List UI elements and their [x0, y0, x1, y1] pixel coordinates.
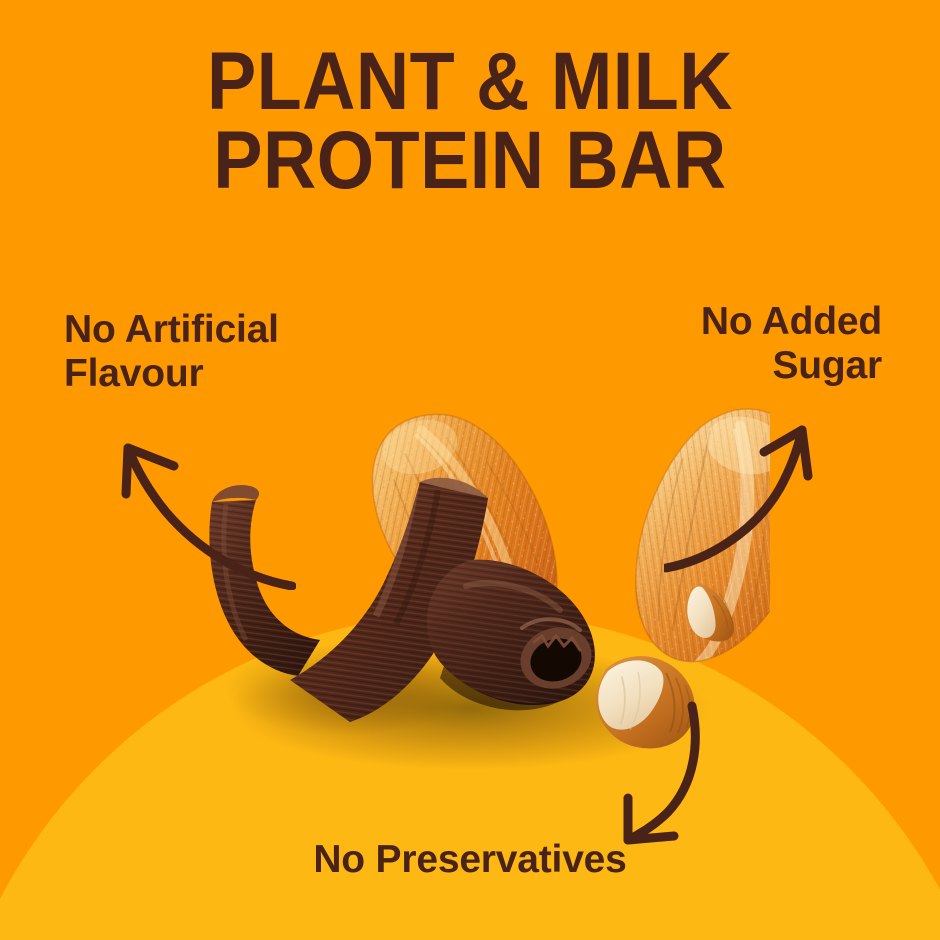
product-poster: PLANT & MILK PROTEIN BAR [0, 0, 940, 940]
benefit-label-no-preservatives: No Preservatives [0, 838, 940, 882]
title-line-1: PLANT & MILK [47, 44, 893, 119]
benefit-line-2: Sugar [542, 344, 882, 388]
benefit-line-2: Flavour [64, 352, 394, 396]
page-title: PLANT & MILK PROTEIN BAR [0, 44, 940, 199]
title-line-2: PROTEIN BAR [47, 123, 893, 198]
benefit-label-no-artificial-flavour: No Artificial Flavour [64, 308, 394, 396]
product-image [170, 390, 770, 780]
benefit-line-1: No Added [542, 300, 882, 344]
benefit-line-1: No Preservatives [0, 838, 940, 882]
benefit-label-no-added-sugar: No Added Sugar [542, 300, 882, 388]
benefit-line-1: No Artificial [64, 308, 394, 352]
